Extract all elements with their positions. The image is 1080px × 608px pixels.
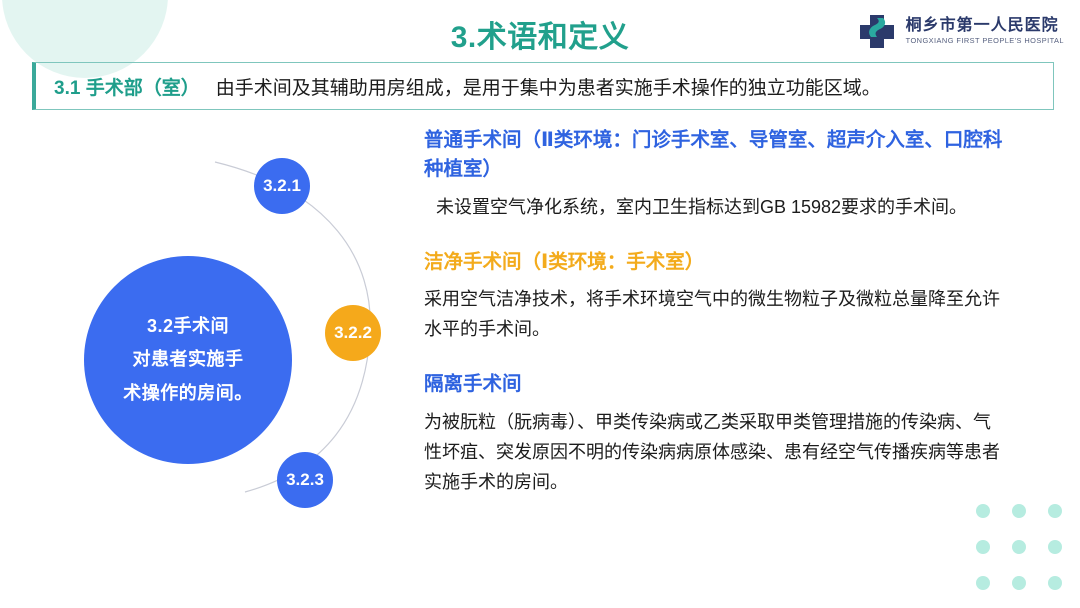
dot [1012, 576, 1026, 590]
block-body: 未设置空气净化系统，室内卫生指标达到GB 15982要求的手术间。 [424, 192, 1008, 222]
definitions-content: 普通手术间（Ⅱ类环境：门诊手术室、导管室、超声介入室、口腔科种植室） 未设置空气… [424, 126, 1008, 497]
definition-block-isolation: 隔离手术间 为被朊粒（朊病毒）、甲类传染病或乙类采取甲类管理措施的传染病、气性坏… [424, 370, 1008, 497]
definition-description: 由手术间及其辅助用房组成，是用于集中为患者实施手术操作的独立功能区域。 [216, 73, 881, 100]
definition-block-clean: 洁净手术间（Ⅰ类环境：手术室） 采用空气洁净技术，将手术环境空气中的微生物粒子及… [424, 248, 1008, 345]
dot [1012, 540, 1026, 554]
medical-cross-icon [857, 12, 897, 50]
dot [1048, 504, 1062, 518]
dot [1012, 504, 1026, 518]
dot [1048, 540, 1062, 554]
block-heading: 洁净手术间（Ⅰ类环境：手术室） [424, 248, 1008, 277]
dot [976, 540, 990, 554]
dot [1048, 576, 1062, 590]
main-circle-line-2: 对患者实施手 [133, 343, 244, 376]
hospital-logo: 桐乡市第一人民医院 TONGXIANG FIRST PEOPLE'S HOSPI… [857, 12, 1064, 50]
hospital-name-cn: 桐乡市第一人民医院 [906, 18, 1064, 35]
block-body: 为被朊粒（朊病毒）、甲类传染病或乙类采取甲类管理措施的传染病、气性坏疽、突发原因… [424, 407, 1008, 498]
hospital-name-en: TONGXIANG FIRST PEOPLE'S HOSPITAL [906, 37, 1064, 45]
node-3-2-1[interactable]: 3.2.1 [254, 158, 310, 214]
decorative-dot-grid [976, 504, 1062, 590]
definition-term: 3.1 手术部（室） [54, 73, 200, 100]
block-heading: 隔离手术间 [424, 370, 1008, 399]
block-body: 采用空气洁净技术，将手术环境空气中的微生物粒子及微粒总量降至允许水平的手术间。 [424, 284, 1008, 344]
logo-text: 桐乡市第一人民医院 TONGXIANG FIRST PEOPLE'S HOSPI… [906, 18, 1064, 45]
node-3-2-2[interactable]: 3.2.2 [325, 305, 381, 361]
definition-bar: 3.1 手术部（室） 由手术间及其辅助用房组成，是用于集中为患者实施手术操作的独… [32, 62, 1054, 110]
dot [976, 576, 990, 590]
main-concept-circle: 3.2手术间 对患者实施手 术操作的房间。 [84, 256, 292, 464]
main-circle-line-3: 术操作的房间。 [123, 377, 253, 410]
block-heading: 普通手术间（Ⅱ类环境：门诊手术室、导管室、超声介入室、口腔科种植室） [424, 126, 1008, 185]
main-circle-line-1: 3.2手术间 [147, 310, 229, 343]
dot [976, 504, 990, 518]
concept-diagram: 3.2手术间 对患者实施手 术操作的房间。 3.2.1 3.2.2 3.2.3 [40, 120, 420, 580]
node-3-2-3[interactable]: 3.2.3 [277, 452, 333, 508]
definition-block-ordinary: 普通手术间（Ⅱ类环境：门诊手术室、导管室、超声介入室、口腔科种植室） 未设置空气… [424, 126, 1008, 222]
